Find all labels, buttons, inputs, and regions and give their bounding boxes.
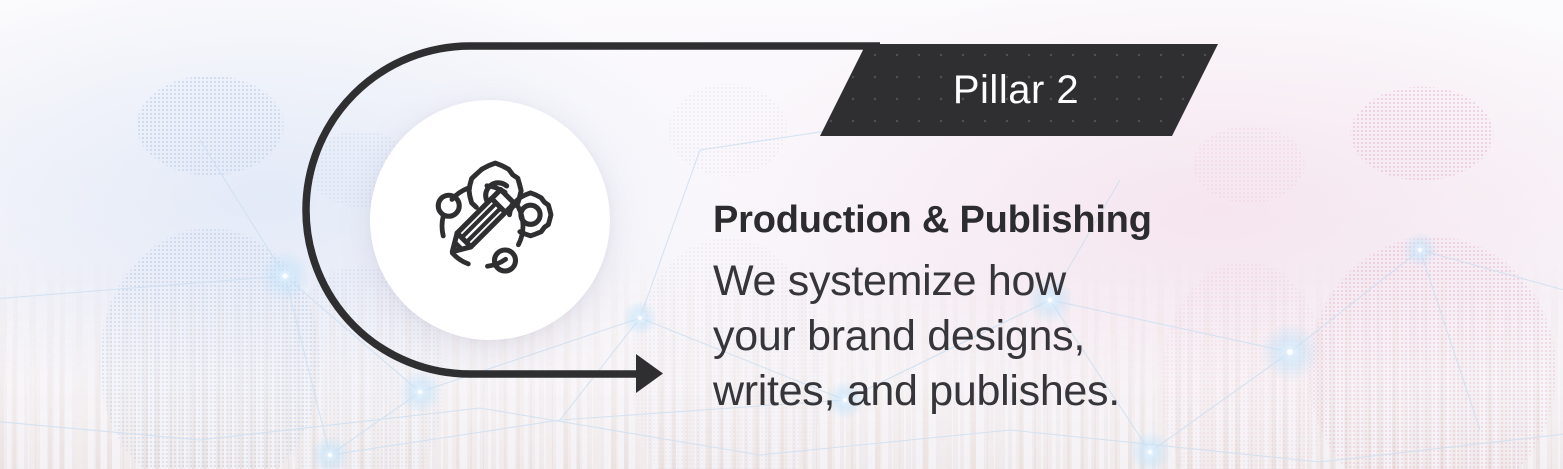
pencil-and-gears-icon <box>415 145 565 295</box>
body-line: your brand designs, <box>713 309 1333 364</box>
body-line: We systemize how <box>713 254 1333 309</box>
icon-disc <box>370 100 610 340</box>
section-body: We systemize how your brand designs, wri… <box>713 254 1333 419</box>
pillar-banner: Pillar 2 <box>820 44 1218 136</box>
pillar-banner-graphic: Pillar 2 Production & Publishing We syst… <box>0 0 1563 469</box>
section-heading: Production & Publishing <box>713 200 1333 241</box>
pillar-banner-label: Pillar 2 <box>953 68 1085 113</box>
body-line: writes, and publishes. <box>713 364 1333 419</box>
text-block: Production & Publishing We systemize how… <box>713 200 1333 419</box>
